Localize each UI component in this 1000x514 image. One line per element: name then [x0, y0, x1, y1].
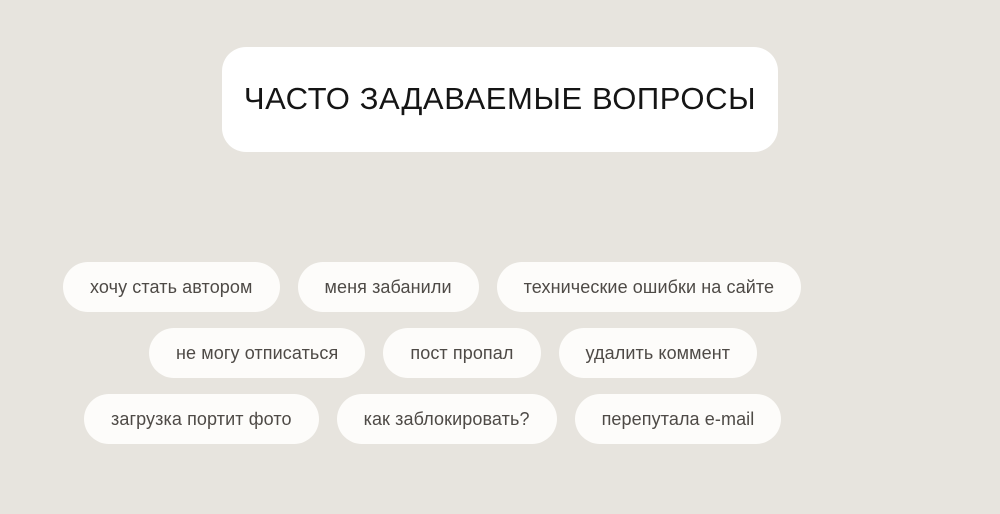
faq-topic-label: технические ошибки на сайте	[524, 278, 775, 296]
faq-topic-label: меня забанили	[325, 278, 452, 296]
faq-topic-label: хочу стать автором	[90, 278, 253, 296]
faq-topic-pill[interactable]: хочу стать автором	[63, 262, 280, 312]
faq-topic-row-3: загрузка портит фото как заблокировать? …	[0, 394, 1000, 444]
faq-page: ЧАСТО ЗАДАВАЕМЫЕ ВОПРОСЫ хочу стать авто…	[0, 0, 1000, 514]
faq-topic-label: перепутала e-mail	[602, 410, 755, 428]
faq-topic-label: загрузка портит фото	[111, 410, 292, 428]
faq-topic-pill[interactable]: как заблокировать?	[337, 394, 557, 444]
faq-topic-pill[interactable]: загрузка портит фото	[84, 394, 319, 444]
faq-topic-pill[interactable]: перепутала e-mail	[575, 394, 782, 444]
faq-topic-row-1: хочу стать автором меня забанили техниче…	[0, 262, 1000, 312]
faq-topic-pill[interactable]: технические ошибки на сайте	[497, 262, 802, 312]
faq-topic-label: не могу отписаться	[176, 344, 338, 362]
faq-topic-pill[interactable]: пост пропал	[383, 328, 540, 378]
faq-topic-label: удалить коммент	[586, 344, 731, 362]
faq-topic-pill[interactable]: меня забанили	[298, 262, 479, 312]
faq-topic-list: хочу стать автором меня забанили техниче…	[0, 262, 1000, 460]
faq-topic-pill[interactable]: не могу отписаться	[149, 328, 365, 378]
faq-topic-row-2: не могу отписаться пост пропал удалить к…	[0, 328, 1000, 378]
page-title: ЧАСТО ЗАДАВАЕМЫЕ ВОПРОСЫ	[244, 82, 756, 116]
faq-topic-label: пост пропал	[410, 344, 513, 362]
faq-topic-pill[interactable]: удалить коммент	[559, 328, 758, 378]
faq-topic-label: как заблокировать?	[364, 410, 530, 428]
page-title-card: ЧАСТО ЗАДАВАЕМЫЕ ВОПРОСЫ	[222, 47, 778, 152]
